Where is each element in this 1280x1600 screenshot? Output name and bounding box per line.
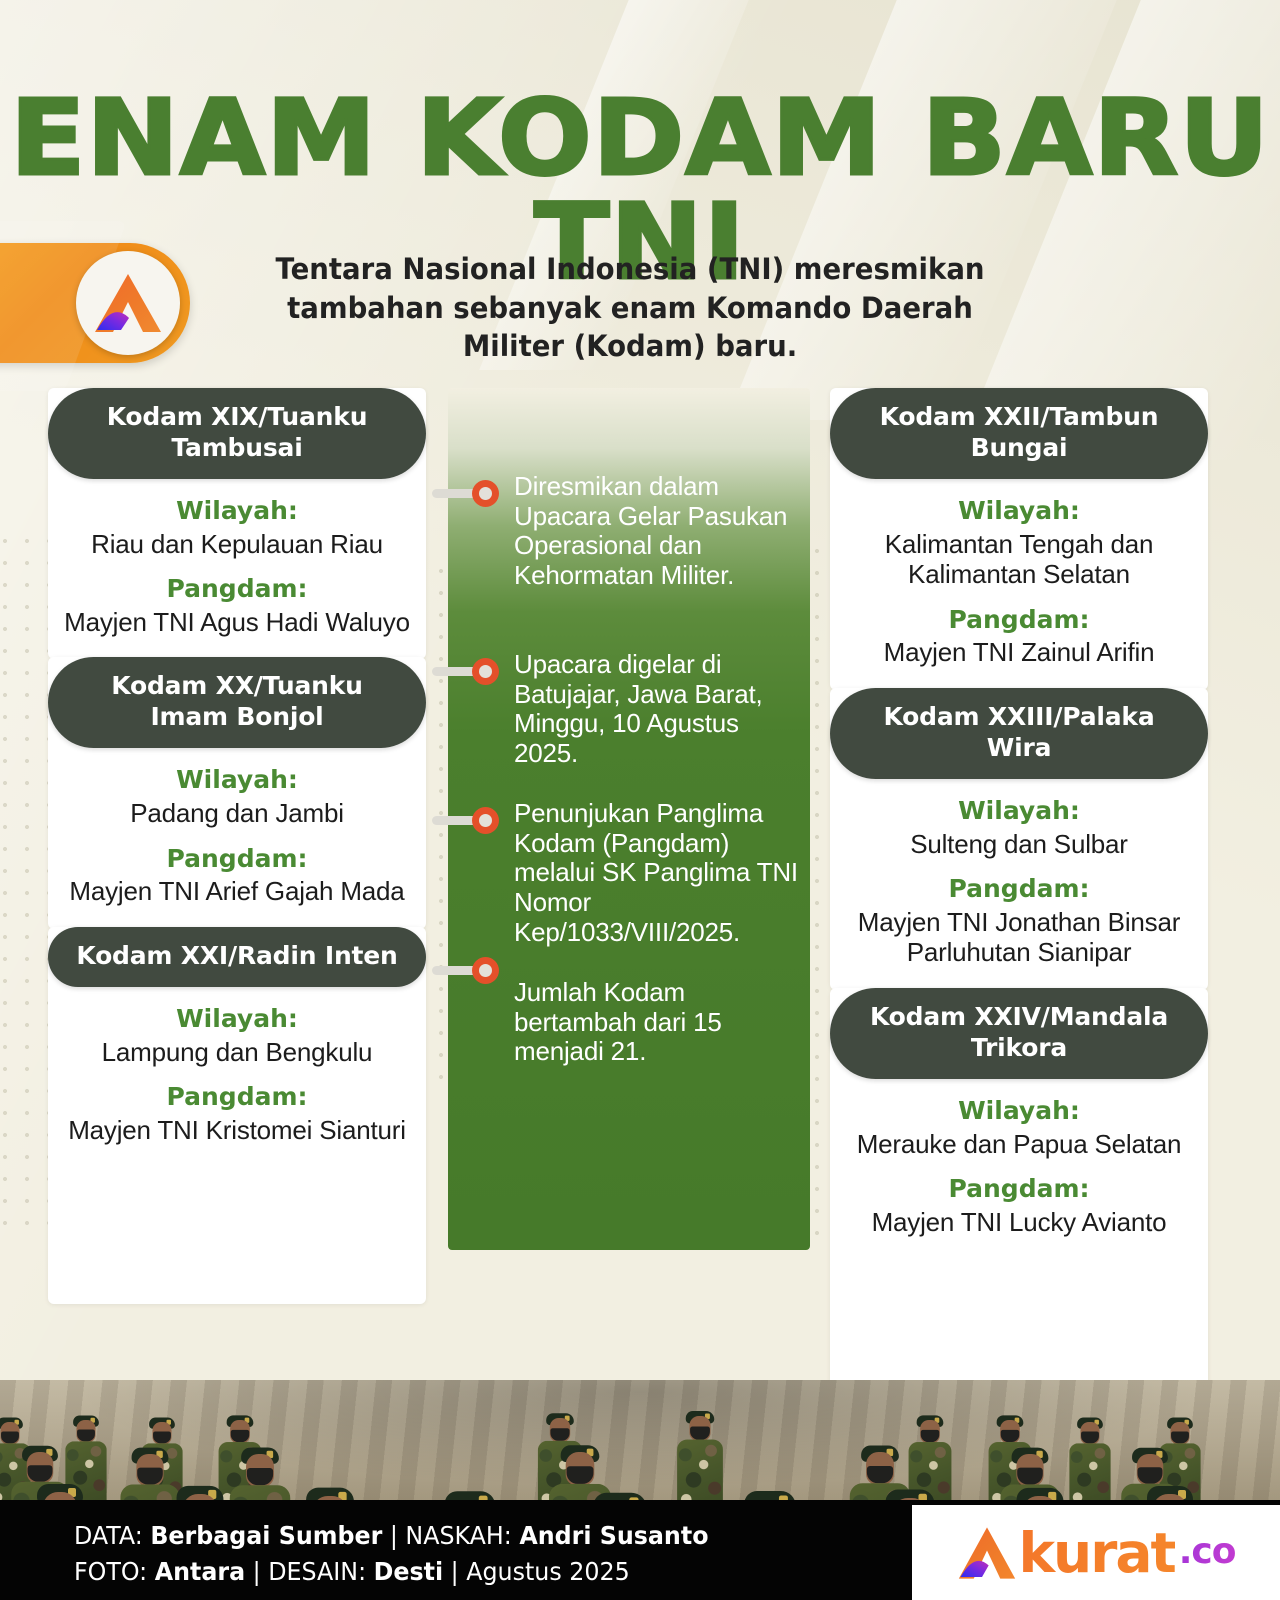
- timeline-item-text: Upacara digelar di Batujajar, Jawa Barat…: [514, 650, 799, 769]
- akurat-a-logo-icon: [91, 268, 165, 338]
- wilayah-value: Sulteng dan Sulbar: [840, 829, 1198, 860]
- akurat-logo-wordmark: kurat: [1018, 1521, 1174, 1585]
- kodam-card[interactable]: Kodam XXII/Tambun Bungai Wilayah: Kalima…: [830, 388, 1208, 690]
- pangdam-label: Pangdam:: [58, 843, 416, 876]
- data-value: Berbagai Sumber: [150, 1521, 382, 1550]
- brand-logo-circle: [76, 251, 180, 355]
- wilayah-label: Wilayah:: [58, 1003, 416, 1036]
- kodam-card[interactable]: Kodam XIX/Tuanku Tambusai Wilayah: Riau …: [48, 388, 426, 659]
- credits-separator: |: [390, 1521, 398, 1550]
- publish-date: Agustus 2025: [466, 1557, 629, 1586]
- naskah-label: NASKAH:: [405, 1521, 511, 1550]
- left-kodam-column: Kodam XIX/Tuanku Tambusai Wilayah: Riau …: [48, 388, 426, 1304]
- timeline-list: Diresmikan dalam Upacara Gelar Pasukan O…: [448, 388, 810, 1250]
- footer-credits-line-2: FOTO: Antara | DESAIN: Desti | Agustus 2…: [74, 1554, 709, 1590]
- kodam-card-body: Wilayah: Padang dan Jambi Pangdam: Mayje…: [48, 748, 426, 914]
- pangdam-label: Pangdam:: [840, 604, 1198, 637]
- pangdam-value: Mayjen TNI Zainul Arifin: [840, 637, 1198, 668]
- pangdam-value: Mayjen TNI Agus Hadi Waluyo: [58, 607, 416, 638]
- wilayah-value: Lampung dan Bengkulu: [58, 1037, 416, 1068]
- data-label: DATA:: [74, 1521, 143, 1550]
- pangdam-value: Mayjen TNI Jonathan Binsar Parluhutan Si…: [840, 907, 1198, 968]
- pangdam-label: Pangdam:: [58, 1081, 416, 1114]
- timeline-item-text: Penunjukan Panglima Kodam (Pangdam) mela…: [514, 799, 799, 947]
- header: ENAM KODAM BARU TNI Tentara Nasional Ind…: [0, 0, 1280, 378]
- kodam-card-title: Kodam XXIII/Palaka Wira: [830, 688, 1208, 779]
- kodam-card[interactable]: Kodam XXIII/Palaka Wira Wilayah: Sulteng…: [830, 688, 1208, 990]
- pangdam-label: Pangdam:: [58, 573, 416, 606]
- wilayah-label: Wilayah:: [840, 495, 1198, 528]
- foto-label: FOTO:: [74, 1557, 147, 1586]
- wilayah-label: Wilayah:: [840, 795, 1198, 828]
- pangdam-label: Pangdam:: [840, 1173, 1198, 1206]
- pangdam-value: Mayjen TNI Kristomei Sianturi: [58, 1115, 416, 1146]
- wilayah-value: Merauke dan Papua Selatan: [840, 1129, 1198, 1160]
- kodam-card-title: Kodam XXIV/Mandala Trikora: [830, 988, 1208, 1079]
- wilayah-value: Kalimantan Tengah dan Kalimantan Selatan: [840, 529, 1198, 590]
- wilayah-label: Wilayah:: [58, 495, 416, 528]
- footer-credits: DATA: Berbagai Sumber | NASKAH: Andri Su…: [74, 1518, 709, 1589]
- kodam-card-body: Wilayah: Lampung dan Bengkulu Pangdam: M…: [48, 987, 426, 1153]
- naskah-value: Andri Susanto: [519, 1521, 708, 1550]
- akurat-logo-tld: .co: [1179, 1531, 1236, 1574]
- footer-credits-line-1: DATA: Berbagai Sumber | NASKAH: Andri Su…: [74, 1518, 709, 1554]
- kodam-card-body: Wilayah: Sulteng dan Sulbar Pangdam: May…: [830, 779, 1208, 976]
- foto-value: Antara: [155, 1557, 245, 1586]
- pangdam-value: Mayjen TNI Arief Gajah Mada: [58, 876, 416, 907]
- desain-value: Desti: [374, 1557, 443, 1586]
- footer: DATA: Berbagai Sumber | NASKAH: Andri Su…: [0, 1500, 1280, 1600]
- right-kodam-column: Kodam XXII/Tambun Bungai Wilayah: Kalima…: [830, 388, 1208, 1395]
- timeline-bullet-icon: [472, 480, 499, 507]
- kodam-card[interactable]: Kodam XXI/Radin Inten Wilayah: Lampung d…: [48, 927, 426, 1304]
- kodam-card-body: Wilayah: Kalimantan Tengah dan Kalimanta…: [830, 479, 1208, 676]
- wilayah-label: Wilayah:: [58, 764, 416, 797]
- timeline-bullet-icon: [472, 957, 499, 984]
- kodam-card-title: Kodam XIX/Tuanku Tambusai: [48, 388, 426, 479]
- brand-badge: [0, 243, 190, 363]
- timeline-item-text: Jumlah Kodam bertambah dari 15 menjadi 2…: [514, 978, 799, 1067]
- kodam-card[interactable]: Kodam XXIV/Mandala Trikora Wilayah: Mera…: [830, 988, 1208, 1395]
- kodam-card-title: Kodam XXI/Radin Inten: [48, 927, 426, 988]
- timeline-item-text: Diresmikan dalam Upacara Gelar Pasukan O…: [514, 472, 799, 591]
- kodam-card-body: Wilayah: Merauke dan Papua Selatan Pangd…: [830, 1079, 1208, 1245]
- timeline-bullet-icon: [472, 807, 499, 834]
- pangdam-label: Pangdam:: [840, 873, 1198, 906]
- kodam-card-title: Kodam XXII/Tambun Bungai: [830, 388, 1208, 479]
- akurat-a-logo-icon: [956, 1524, 1018, 1582]
- credits-separator: |: [451, 1557, 459, 1586]
- wilayah-label: Wilayah:: [840, 1095, 1198, 1128]
- page-subtitle: Tentara Nasional Indonesia (TNI) meresmi…: [269, 250, 991, 366]
- timeline-bullet-icon: [472, 658, 499, 685]
- pangdam-value: Mayjen TNI Lucky Avianto: [840, 1207, 1198, 1238]
- kodam-card-title: Kodam XX/Tuanku Imam Bonjol: [48, 657, 426, 748]
- kodam-card-body: Wilayah: Riau dan Kepulauan Riau Pangdam…: [48, 479, 426, 645]
- wilayah-value: Riau dan Kepulauan Riau: [58, 529, 416, 560]
- desain-label: DESAIN:: [268, 1557, 366, 1586]
- kodam-card[interactable]: Kodam XX/Tuanku Imam Bonjol Wilayah: Pad…: [48, 657, 426, 928]
- wilayah-value: Padang dan Jambi: [58, 798, 416, 829]
- akurat-logo-plate[interactable]: kurat .co: [912, 1505, 1280, 1600]
- credits-separator: |: [253, 1557, 261, 1586]
